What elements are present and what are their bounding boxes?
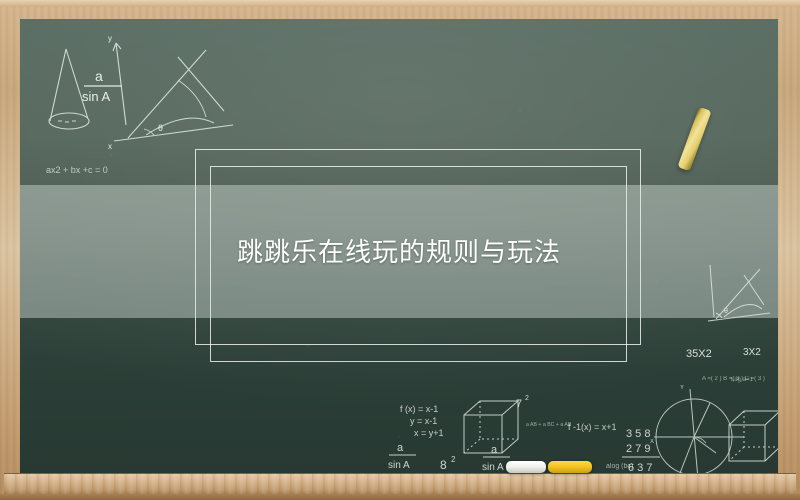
chalk-exponent-base: 7	[516, 398, 522, 410]
chalk-fraction-denominator: sin A	[82, 89, 111, 104]
chalk-matrix-row: A =( 2 ) B =( 3 ) C =( 3 )	[702, 369, 778, 387]
chalk-equation-line-1: f (x) = x-1	[400, 404, 438, 414]
chalk-log-label-text: alog (bc)	[606, 463, 633, 470]
chalk-equation-line-2: y = x-1	[410, 416, 437, 426]
frame-top-highlight	[0, 0, 800, 7]
chalk-inverse-function-text: f -1(x) = x+1	[568, 422, 617, 432]
chalk-quadratic-equation: ax2 + bx +c = 0	[46, 159, 176, 181]
chalk-quadratic-text: ax2 + bx +c = 0	[46, 165, 108, 175]
chalk-tray	[4, 473, 796, 494]
chalk-circle-axes-svg: Y X	[650, 381, 754, 473]
chalkboard: y x θ a sin A ax2 + bx +c = 0	[20, 19, 778, 473]
chalk-cube-center-svg	[460, 397, 526, 459]
chalk-multiply-label-2: 3X2	[743, 347, 761, 358]
chalk-exponent-value: 2	[525, 395, 529, 402]
chalk-axis-x-label: x	[108, 142, 112, 151]
chalk-axis-y-label: y	[108, 34, 112, 43]
frame-bottom-shadow	[0, 494, 800, 500]
chalk-stick-yellow-icon	[677, 107, 711, 172]
chalk-fraction-numerator: a	[95, 68, 103, 84]
chalk-fraction-a-over-sinA-bl: a sin A	[386, 437, 446, 473]
chalk-fraction-denominator: sin A	[482, 462, 504, 473]
chalk-matrix-row-text: A =( 2 ) B =( 3 ) C =( 3 )	[702, 376, 765, 382]
chalk-cube-right-svg	[726, 407, 778, 469]
chalk-circle-axis-y: Y	[680, 385, 684, 391]
chalk-function-equations: f (x) = x-1 y = x-1 x = y+1	[400, 401, 510, 445]
chalk-arithmetic-column: 3 5 8 2 7 9 6 3 7	[620, 421, 666, 473]
chalk-multiplication-labels: 35X2 3X2	[686, 341, 778, 365]
wooden-frame: y x θ a sin A ax2 + bx +c = 0	[0, 0, 800, 500]
chalk-arithmetic-line-2: 2 7 9	[626, 443, 650, 455]
chalk-arithmetic-line-3: 6 3 7	[628, 462, 652, 473]
page-title: 跳跳乐在线玩的规则与玩法	[237, 239, 561, 265]
chalk-arithmetic-line-1: 3 5 8	[626, 428, 650, 440]
chalk-circle-axis-x: X	[650, 439, 654, 445]
chalk-log-label-top: Log a=1	[731, 371, 778, 387]
chalk-stick-yellow-tray-icon	[548, 461, 592, 473]
chalk-equation-line-3: x = y+1	[414, 428, 444, 438]
chalk-stick-white-icon	[506, 461, 546, 473]
chalk-inverse-function: f -1(x) = x+1	[568, 417, 678, 439]
chalk-small-formula: a AB + a BC + a AB	[526, 416, 592, 432]
chalk-power-eight-squared: 8 2	[438, 451, 472, 473]
chalk-angle-label: θ	[158, 123, 163, 133]
chalk-multiply-label-1: 35X2	[686, 348, 712, 360]
chalk-power-base: 8	[440, 458, 447, 472]
chalk-fraction-numerator: a	[397, 442, 404, 454]
chalk-small-formula-text: a AB + a BC + a AB	[526, 422, 572, 428]
chalk-fraction-numerator: a	[491, 444, 498, 456]
title-overlay-band: 跳跳乐在线玩的规则与玩法	[20, 185, 778, 318]
chalk-fraction-a-over-sinA-top: a sin A	[74, 63, 164, 111]
chalk-power-exponent: 2	[451, 455, 456, 464]
chalk-log-label-top-text: Log a=1	[731, 377, 754, 383]
chalk-fraction-denominator: sin A	[388, 460, 410, 471]
chalk-log-label: alog (bc)	[606, 457, 668, 473]
chalk-seven-squared: 7 2	[515, 391, 545, 415]
